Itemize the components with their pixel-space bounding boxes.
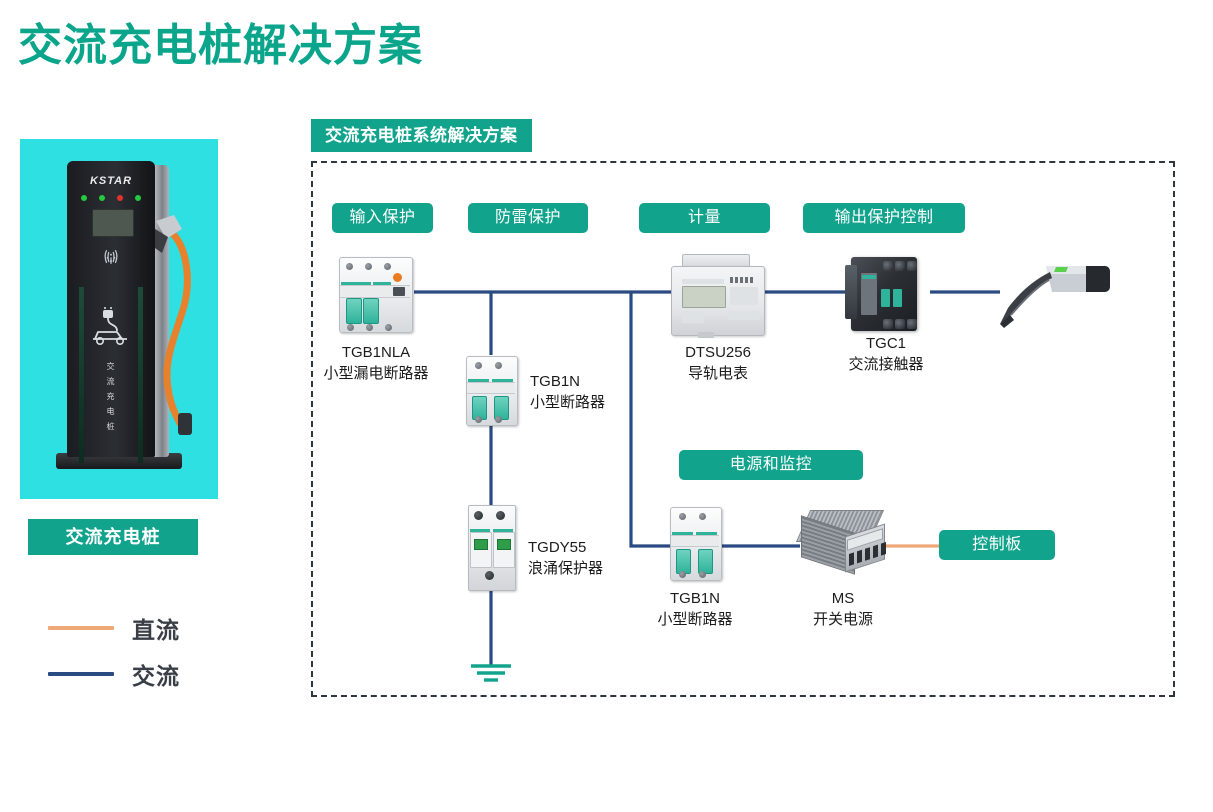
device-meter-dtsu256 <box>668 253 768 339</box>
category-badge-control-board: 控制板 <box>939 530 1055 560</box>
caption-mcb-upper-model: TGB1N <box>530 371 650 392</box>
caption-power-supply-name: 开关电源 <box>785 609 901 630</box>
legend-item-ac: 交流 <box>48 651 248 697</box>
caption-meter: DTSU256 导轨电表 <box>640 342 796 384</box>
caption-meter-model: DTSU256 <box>640 342 796 363</box>
led-indicator <box>99 195 105 201</box>
category-badge-metering: 计量 <box>639 203 770 233</box>
led-indicator <box>81 195 87 201</box>
pile-cable <box>148 213 206 443</box>
diagram-title-badge: 交流充电桩系统解决方案 <box>311 119 532 152</box>
ev-charging-connector <box>994 258 1116 330</box>
led-indicator <box>135 195 141 201</box>
caption-mcb-lower-name: 小型断路器 <box>620 609 770 630</box>
caption-rcbo-model: TGB1NLA <box>296 342 456 363</box>
caption-mcb-upper: TGB1N 小型断路器 <box>530 371 650 413</box>
pile-caption-badge: 交流充电桩 <box>28 519 198 555</box>
category-badge-input-protection: 输入保护 <box>332 203 433 233</box>
category-badge-output-control: 输出保护控制 <box>803 203 965 233</box>
page-title: 交流充电桩解决方案 <box>18 22 423 70</box>
caption-contactor-name: 交流接触器 <box>812 354 960 375</box>
pile-brand-label: KSTAR <box>67 175 155 187</box>
device-spd-tgdy55 <box>466 503 518 591</box>
legend-label-dc: 直流 <box>132 611 180 645</box>
device-contactor-tgc1 <box>843 251 931 337</box>
caption-contactor: TGC1 交流接触器 <box>812 333 960 375</box>
caption-power-supply: MS 开关电源 <box>785 588 901 630</box>
legend-swatch-dc <box>48 626 114 630</box>
device-switching-power-supply-ms <box>797 508 889 578</box>
caption-mcb-lower: TGB1N 小型断路器 <box>620 588 770 630</box>
category-badge-power-monitoring: 电源和监控 <box>679 450 863 480</box>
caption-spd-name: 浪涌保护器 <box>528 558 648 579</box>
caption-contactor-model: TGC1 <box>812 333 960 354</box>
pile-vertical-text: 交流充电桩 <box>67 359 155 434</box>
ev-charging-car-icon <box>87 307 137 347</box>
legend-label-ac: 交流 <box>132 657 180 691</box>
pile-led-indicators <box>81 195 141 201</box>
legend-swatch-ac <box>48 672 114 676</box>
caption-mcb-upper-name: 小型断路器 <box>530 392 650 413</box>
caption-mcb-lower-model: TGB1N <box>620 588 770 609</box>
pile-display-screen <box>92 209 134 237</box>
caption-rcbo: TGB1NLA 小型漏电断路器 <box>296 342 456 384</box>
device-mcb-tgb1n-lower <box>668 505 724 583</box>
caption-rcbo-name: 小型漏电断路器 <box>296 363 456 384</box>
rfid-signal-icon <box>97 247 125 267</box>
device-rcbo-tgb1nla <box>337 251 415 336</box>
legend-item-dc: 直流 <box>48 605 248 651</box>
caption-meter-name: 导轨电表 <box>640 363 796 384</box>
ac-charging-pile-photo: KSTAR ⁘ 交流充电桩 <box>20 139 218 499</box>
caption-spd: TGDY55 浪涌保护器 <box>528 537 648 579</box>
caption-spd-model: TGDY55 <box>528 537 648 558</box>
caption-power-supply-model: MS <box>785 588 901 609</box>
led-indicator <box>117 195 123 201</box>
legend: 直流 交流 <box>48 605 248 697</box>
pile-body: KSTAR ⁘ 交流充电桩 <box>67 161 155 457</box>
device-mcb-tgb1n-upper <box>464 354 520 426</box>
category-badge-surge-protection: 防雷保护 <box>468 203 588 233</box>
